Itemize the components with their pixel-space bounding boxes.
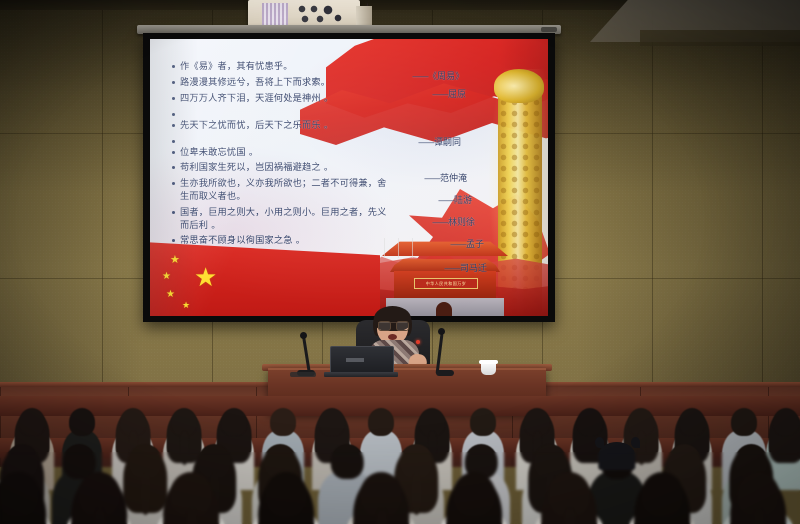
slide-bullet-text: 四万万人齐下泪，天涯何处是神州 。 <box>180 93 333 106</box>
slide-attribution: ——孟子 <box>450 237 484 250</box>
screen-roller-end-cap <box>541 27 557 32</box>
flag-star-small-1: ★ <box>170 255 180 266</box>
attribution-name: 司马迁 <box>460 264 487 274</box>
slide-attribution: ——林则徐 <box>432 215 475 228</box>
audience-person-cap-ear-right <box>631 437 640 448</box>
bullet-dot-icon <box>172 211 175 214</box>
slide-bullet-text: 路漫漫其修远兮，吾将上下而求索。 <box>180 77 330 90</box>
slide-bullet: 作《易》者，其有忧患乎。 <box>172 61 387 74</box>
microphone-status-led <box>416 340 420 344</box>
attribution-name: 范仲淹 <box>440 174 467 184</box>
bullet-dot-icon <box>172 182 175 185</box>
microphone-left-head-icon <box>300 332 307 339</box>
bullet-dot-icon <box>172 239 175 242</box>
attribution-name: 屈原 <box>448 90 466 100</box>
slide-attribution: ——《周易》 <box>412 69 464 82</box>
slide-attribution: ——陆游 <box>438 193 472 206</box>
slide-attribution: ——谭嗣同 <box>418 135 461 148</box>
slide-bullet-list: 作《易》者，其有忧患乎。路漫漫其修远兮，吾将上下而求索。四万万人齐下泪，天涯何处… <box>172 61 387 251</box>
lecture-hall-photo: 中华人民共和国万岁 ★ ★ ★ ★ ★ 作《易》者，其有忧患乎。路漫漫其修远兮，… <box>0 0 800 524</box>
audience-person-head <box>731 408 757 436</box>
projection-screen: 中华人民共和国万岁 ★ ★ ★ ★ ★ 作《易》者，其有忧患乎。路漫漫其修远兮，… <box>150 39 548 316</box>
slide-bullet-text: 国者，巨用之则大，小用之则小。巨用之者，先义而后利 。 <box>180 207 387 232</box>
bullet-dot-icon <box>172 151 175 154</box>
laptop-base <box>324 372 398 377</box>
bullet-dot-icon <box>172 140 175 143</box>
audience-person <box>342 472 420 524</box>
projector-ports-icon <box>296 4 348 24</box>
gold-pillar-capital <box>494 69 544 103</box>
audience-person <box>248 472 324 524</box>
slide-bullet: 生亦我所欲也，义亦我所欲也；二者不可得兼，舍生而取义者也。 <box>172 178 387 203</box>
audience-person-head <box>265 472 307 517</box>
slide-bullet: 位卑未敢忘忧国 。 <box>172 147 387 160</box>
audience-person <box>436 472 512 524</box>
flag-star-small-3: ★ <box>166 290 175 300</box>
audience-person-head <box>270 408 296 436</box>
audience-person-head <box>69 408 95 436</box>
attribution-name: 谭嗣同 <box>434 138 461 148</box>
audience-person-head <box>368 408 394 436</box>
attribution-dash: —— <box>444 264 460 274</box>
slide-bullet: 常思奋不顾身以徇国家之急 。 <box>172 235 387 248</box>
slide-bullet-spacer <box>172 136 387 145</box>
slide-attribution: ——屈原 <box>432 87 466 100</box>
audience-person-head <box>453 472 495 517</box>
slide-bullet: 苟利国家生死以，岂因祸福避趋之 。 <box>172 162 387 175</box>
slide-bullet: 四万万人齐下泪，天涯何处是神州 。 <box>172 93 387 106</box>
audience-person <box>152 472 230 524</box>
audience-person-head <box>19 408 45 436</box>
audience-person-cap-ear-left <box>595 437 604 448</box>
slide-bullet-text: 苟利国家生死以，岂因祸福避趋之 。 <box>180 162 333 175</box>
audience-person-head <box>679 408 705 436</box>
slide-bullet: 先天下之忧而忧，后天下之乐而乐 。 <box>172 120 387 133</box>
flag-star-small-2: ★ <box>162 272 171 282</box>
slide-bullet-text: 作《易》者，其有忧患乎。 <box>180 61 293 74</box>
attribution-dash: —— <box>424 174 440 184</box>
attribution-name: 《周易》 <box>428 72 464 82</box>
slide-bullet-text: 常思奋不顾身以徇国家之急 。 <box>180 235 305 248</box>
laptop-logo <box>346 358 364 362</box>
slide-bullet-text: 生亦我所欲也，义亦我所欲也；二者不可得兼，舍生而取义者也。 <box>180 178 387 203</box>
flagpoles-graphic <box>378 238 448 258</box>
slide-attribution: ——司马迁 <box>444 261 487 274</box>
glasses-lens-left <box>378 321 391 331</box>
paper-cup-lid <box>479 360 498 364</box>
audience-person <box>530 472 608 524</box>
audience-person-head <box>577 408 603 436</box>
glasses-lens-right <box>396 321 409 331</box>
bullet-dot-icon <box>172 65 175 68</box>
audience-person-head <box>470 408 496 436</box>
attribution-name: 陆游 <box>454 196 472 206</box>
slide-bullet-text: 位卑未敢忘忧国 。 <box>180 147 258 160</box>
attribution-dash: —— <box>450 240 466 250</box>
bullet-dot-icon <box>172 81 175 84</box>
slide-attribution: ——范仲淹 <box>424 171 467 184</box>
attribution-dash: —— <box>418 138 434 148</box>
audience-person <box>0 472 56 524</box>
attribution-dash: —— <box>432 218 448 228</box>
gate-archway <box>436 302 452 316</box>
slide-bullet-text: 先天下之忧而忧，后天下之乐而乐 。 <box>180 120 333 133</box>
audience-person-head <box>773 408 799 436</box>
audience <box>0 386 800 524</box>
audience-person-head <box>641 472 683 517</box>
audience-person <box>718 472 798 524</box>
microphone-right-head-icon <box>438 328 445 335</box>
audience-person <box>624 472 700 524</box>
attribution-dash: —— <box>412 72 428 82</box>
bullet-dot-icon <box>172 166 175 169</box>
gate-banner-text: 中华人民共和国万岁 <box>414 278 478 289</box>
audience-person <box>62 472 136 524</box>
audience-person-head <box>319 408 345 436</box>
slide-bullet: 路漫漫其修远兮，吾将上下而求索。 <box>172 77 387 90</box>
bullet-dot-icon <box>172 113 175 116</box>
attribution-name: 林则徐 <box>448 218 475 228</box>
bullet-dot-icon <box>172 97 175 100</box>
audience-person-head <box>221 408 247 436</box>
slide-bullet-spacer <box>172 109 387 118</box>
desk-accessory <box>290 372 316 377</box>
bullet-dot-icon <box>172 124 175 127</box>
attribution-dash: —— <box>432 90 448 100</box>
flag-star-small-4: ★ <box>182 301 190 310</box>
attribution-dash: —— <box>438 196 454 206</box>
microphone-right-base <box>436 370 454 376</box>
projector-vent-icon <box>262 3 288 25</box>
slide-bullet: 国者，巨用之则大，小用之则小。巨用之者，先义而后利 。 <box>172 207 387 232</box>
flag-star-large: ★ <box>194 264 217 290</box>
attribution-name: 孟子 <box>466 240 484 250</box>
audience-person-head <box>0 472 39 517</box>
